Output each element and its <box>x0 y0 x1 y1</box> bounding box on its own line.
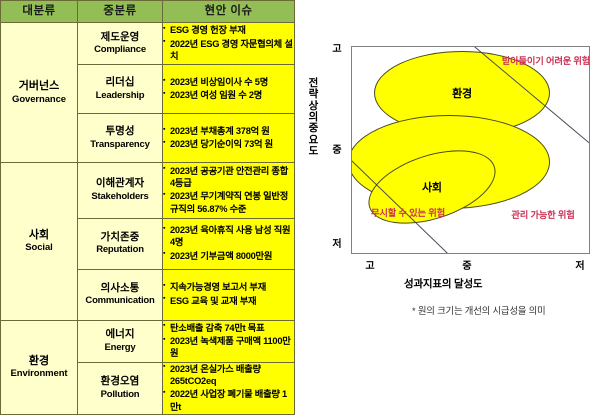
category-label-en: Social <box>1 242 77 254</box>
issue-item: 2023년 공공기관 안전관리 종합 4등급 <box>163 165 294 190</box>
issue-item: 탄소배출 감축 74만t 목표 <box>163 322 294 334</box>
subcategory-label-en: Pollution <box>78 389 162 401</box>
issue-list: 2023년 온실가스 배출량 265tCO2eq 2022년 사업장 폐기물 배… <box>163 363 294 413</box>
subcategory-cell-stakeholders: 이해관계자 Stakeholders <box>78 163 163 218</box>
subcategory-label-ko: 제도운영 <box>78 31 162 45</box>
subcategory-cell-transparency: 투명성 Transparency <box>78 114 163 163</box>
x-axis-label: 성과지표의 달성도 <box>404 276 482 291</box>
category-cell-environment: 환경 Environment <box>1 320 78 414</box>
issue-cell-communication: 지속가능경영 보고서 부재 ESG 교육 및 교재 부재 <box>163 269 295 320</box>
bubble-label: 사회 <box>422 179 442 195</box>
subcategory-cell-compliance: 제도운영 Compliance <box>78 23 163 65</box>
plot-area: 환경 거버넌스 사회 받아들이기 어려운 위험 무시할 수 있는 위험 관리 가… <box>351 46 590 254</box>
x-axis-tick-low: 저 <box>572 257 588 272</box>
issue-item: ESG 교육 및 교재 부재 <box>163 295 294 307</box>
issue-item: 2023년 기부금액 8000만원 <box>163 250 294 262</box>
chart-footnote: * 원의 크기는 개선의 시급성을 의미 <box>412 303 545 317</box>
y-axis-label-char: 략 <box>306 89 321 100</box>
issue-list: ESG 경영 헌장 부재 2022년 ESG 경영 자문협의체 설치 <box>163 24 294 62</box>
issue-item: 2023년 육아휴직 사용 남성 직원 4명 <box>163 224 294 249</box>
subcategory-label-ko: 가치존중 <box>78 231 162 245</box>
annotation-manageable-risk: 관리 가능한 위험 <box>502 209 584 221</box>
issue-cell-leadership: 2023년 비상임이사 수 5명 2023년 여성 임원 수 2명 <box>163 65 295 114</box>
column-header-major: 대분류 <box>1 1 78 23</box>
subcategory-label-ko: 투명성 <box>78 125 162 139</box>
subcategory-label-en: Communication <box>78 295 162 307</box>
category-cell-governance: 거버넌스 Governance <box>1 23 78 163</box>
issue-cell-pollution: 2023년 온실가스 배출량 265tCO2eq 2022년 사업장 폐기물 배… <box>163 362 295 414</box>
issue-item: 2023년 부채총계 378억 원 <box>163 125 294 137</box>
issue-item: 2023년 당기순이익 73억 원 <box>163 138 294 150</box>
issue-cell-energy: 탄소배출 감축 74만t 목표 2023년 녹색제품 구매액 1100만원 <box>163 320 295 362</box>
table-row: 거버넌스 Governance 제도운영 Compliance ESG 경영 헌… <box>1 23 295 65</box>
column-header-middle: 중분류 <box>78 1 163 23</box>
annotation-ignorable-risk: 무시할 수 있는 위험 <box>362 207 454 219</box>
issue-list: 2023년 육아휴직 사용 남성 직원 4명 2023년 기부금액 8000만원 <box>163 224 294 262</box>
subcategory-cell-reputation: 가치존중 Reputation <box>78 218 163 269</box>
issue-list: 2023년 비상임이사 수 5명 2023년 여성 임원 수 2명 <box>163 76 294 102</box>
table-row: 사회 Social 이해관계자 Stakeholders 2023년 공공기관 … <box>1 163 295 218</box>
category-label-ko: 거버넌스 <box>1 80 77 94</box>
y-axis-label-char: 도 <box>306 146 321 157</box>
subcategory-label-en: Transparency <box>78 139 162 151</box>
category-cell-social: 사회 Social <box>1 163 78 320</box>
category-label-en: Governance <box>1 94 77 106</box>
subcategory-label-ko: 이해관계자 <box>78 177 162 191</box>
issue-item: 지속가능경영 보고서 부재 <box>163 281 294 293</box>
column-header-issues: 현안 이슈 <box>163 1 295 23</box>
subcategory-label-en: Compliance <box>78 44 162 56</box>
subcategory-label-ko: 의사소통 <box>78 282 162 296</box>
y-axis-tick-low: 저 <box>330 235 344 250</box>
x-axis-tick-high: 고 <box>362 257 378 272</box>
issue-item: 2023년 온실가스 배출량 265tCO2eq <box>163 363 294 388</box>
issue-list: 탄소배출 감축 74만t 목표 2023년 녹색제품 구매액 1100만원 <box>163 322 294 360</box>
issue-item: 2023년 비상임이사 수 5명 <box>163 76 294 88</box>
issue-item: 2022년 ESG 경영 자문협의체 설치 <box>163 38 294 63</box>
subcategory-label-ko: 환경오염 <box>78 375 162 389</box>
subcategory-label-en: Stakeholders <box>78 191 162 203</box>
y-axis-tick-medium: 중 <box>330 141 344 156</box>
subcategory-label-ko: 에너지 <box>78 328 162 342</box>
subcategory-label-en: Leadership <box>78 90 162 102</box>
subcategory-label-en: Energy <box>78 342 162 354</box>
issue-item: 2022년 사업장 폐기물 배출량 1만t <box>163 388 294 413</box>
issue-list: 2023년 부채총계 378억 원 2023년 당기순이익 73억 원 <box>163 125 294 151</box>
y-axis-label: 전 략 상 의 중 요 도 <box>306 78 321 157</box>
subcategory-label-ko: 리더십 <box>78 76 162 90</box>
x-axis-tick-medium: 중 <box>459 257 475 272</box>
bubble-label: 환경 <box>452 85 472 101</box>
category-label-ko: 사회 <box>1 229 77 243</box>
issue-item: 2023년 무기계약직 연봉 일반정규직의 56.87% 수준 <box>163 190 294 215</box>
table-body: 거버넌스 Governance 제도운영 Compliance ESG 경영 헌… <box>1 23 295 415</box>
issue-item: 2023년 여성 임원 수 2명 <box>163 89 294 101</box>
materiality-bubble-chart: 전 략 상 의 중 요 도 고 중 저 환경 거버넌스 사회 받아들이기 어려운… <box>300 0 600 415</box>
issue-list: 지속가능경영 보고서 부재 ESG 교육 및 교재 부재 <box>163 281 294 307</box>
issue-cell-transparency: 2023년 부채총계 378억 원 2023년 당기순이익 73억 원 <box>163 114 295 163</box>
y-axis-tick-high: 고 <box>330 40 344 55</box>
issue-cell-stakeholders: 2023년 공공기관 안전관리 종합 4등급 2023년 무기계약직 연봉 일반… <box>163 163 295 218</box>
annotation-unacceptable-risk: 받아들이기 어려운 위험 <box>498 55 590 67</box>
issue-cell-reputation: 2023년 육아휴직 사용 남성 직원 4명 2023년 기부금액 8000만원 <box>163 218 295 269</box>
table-header-row: 대분류 중분류 현안 이슈 <box>1 1 295 23</box>
subcategory-cell-leadership: 리더십 Leadership <box>78 65 163 114</box>
table-row: 환경 Environment 에너지 Energy 탄소배출 감축 74만t 목… <box>1 320 295 362</box>
category-label-ko: 환경 <box>1 355 77 369</box>
subcategory-cell-energy: 에너지 Energy <box>78 320 163 362</box>
category-label-en: Environment <box>1 368 77 380</box>
subcategory-label-en: Reputation <box>78 244 162 256</box>
esg-materiality-page: 대분류 중분류 현안 이슈 거버넌스 Governance 제도운영 Compl… <box>0 0 600 415</box>
y-axis-label-char: 중 <box>306 123 321 134</box>
issue-item: ESG 경영 헌장 부재 <box>163 24 294 36</box>
issue-list: 2023년 공공기관 안전관리 종합 4등급 2023년 무기계약직 연봉 일반… <box>163 165 294 215</box>
subcategory-cell-pollution: 환경오염 Pollution <box>78 362 163 414</box>
issue-cell-compliance: ESG 경영 헌장 부재 2022년 ESG 경영 자문협의체 설치 <box>163 23 295 65</box>
issue-item: 2023년 녹색제품 구매액 1100만원 <box>163 335 294 360</box>
esg-issue-table: 대분류 중분류 현안 이슈 거버넌스 Governance 제도운영 Compl… <box>0 0 295 415</box>
subcategory-cell-communication: 의사소통 Communication <box>78 269 163 320</box>
